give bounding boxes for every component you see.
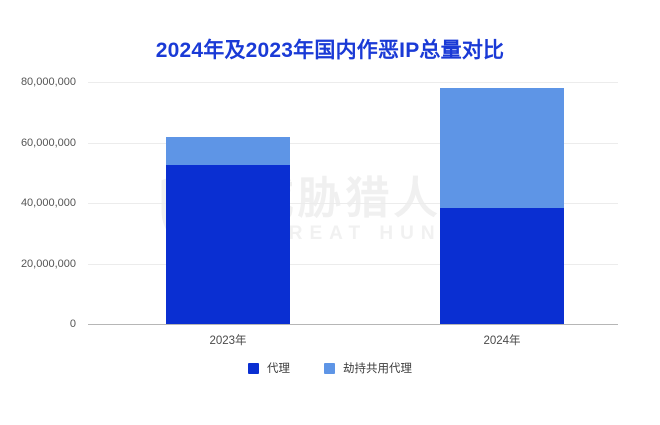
x-axis-tick-2023: 2023年 [148, 332, 308, 348]
text-layer: 2024年及2023年国内作恶IP总量对比 80,000,000 60,000,… [0, 0, 660, 425]
y-axis-tick-80m: 80,000,000 [0, 76, 76, 88]
chart-legend: 代理 劫持共用代理 [0, 360, 660, 376]
legend-item-proxy[interactable]: 代理 [248, 360, 290, 376]
legend-swatch-hijacked-shared-proxy [324, 363, 335, 374]
y-axis-tick-40m: 40,000,000 [0, 197, 76, 209]
chart-container: 威胁猎人 THREAT HUNTER [0, 0, 660, 425]
y-axis-tick-20m: 20,000,000 [0, 258, 76, 270]
legend-swatch-proxy [248, 363, 259, 374]
x-axis-tick-2024: 2024年 [422, 332, 582, 348]
legend-item-hijacked-shared-proxy[interactable]: 劫持共用代理 [324, 360, 412, 376]
chart-title: 2024年及2023年国内作恶IP总量对比 [0, 34, 660, 64]
legend-label-hijacked-shared-proxy: 劫持共用代理 [343, 360, 412, 376]
y-axis-tick-0: 0 [0, 318, 76, 330]
legend-label-proxy: 代理 [267, 360, 290, 376]
y-axis-tick-60m: 60,000,000 [0, 137, 76, 149]
